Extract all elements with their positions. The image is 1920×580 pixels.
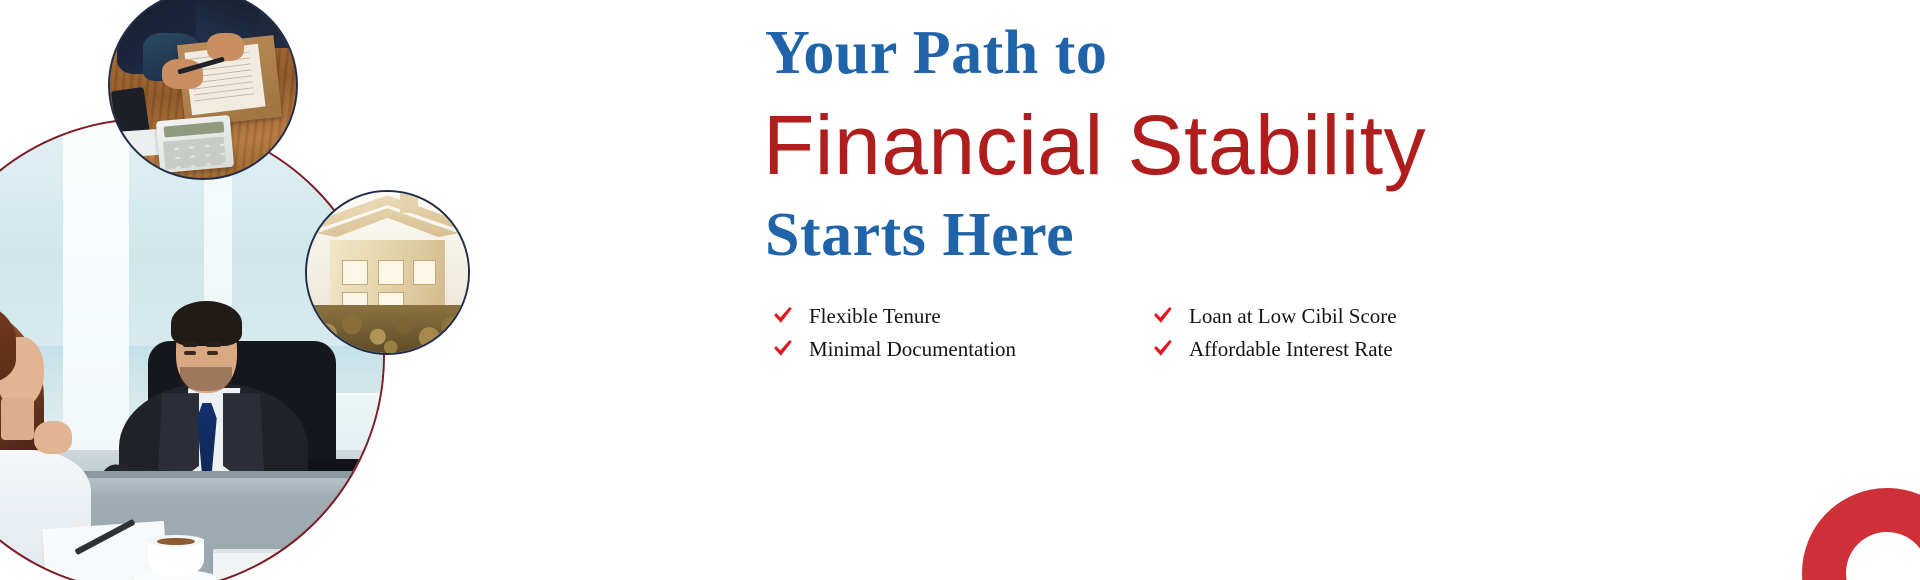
woman-neck: [1, 398, 34, 440]
headline-line-3: Starts Here: [765, 204, 1074, 266]
feature-item: Affordable Interest Rate: [1153, 338, 1453, 360]
coin-pile: [307, 305, 468, 353]
hand-holding-document: [207, 33, 244, 61]
house-window: [342, 260, 368, 286]
headline-line-1: Your Path to: [765, 22, 1107, 84]
headline-line-2: Financial Stability: [763, 103, 1426, 187]
house-savings-photo: [305, 190, 470, 355]
feature-column-2: Loan at Low Cibil Score Affordable Inter…: [1153, 305, 1453, 360]
man-eyebrow: [183, 342, 197, 346]
notebook: [213, 553, 293, 580]
check-icon: [1153, 306, 1173, 326]
feature-label: Affordable Interest Rate: [1189, 339, 1393, 360]
man-eyebrow: [206, 342, 220, 346]
man-eye: [207, 351, 218, 355]
feature-label: Loan at Low Cibil Score: [1189, 306, 1397, 327]
man-hair: [171, 301, 242, 346]
promo-banner: Your Path to Financial Stability Starts …: [0, 0, 1920, 580]
document-signing-photo: [108, 0, 298, 180]
house-window: [378, 260, 404, 286]
photo-collage: [0, 0, 500, 580]
feature-item: Flexible Tenure: [773, 305, 1083, 327]
house-window: [413, 260, 436, 286]
check-icon: [773, 306, 793, 326]
check-icon: [1153, 339, 1173, 359]
calculator-keypad: [163, 136, 227, 169]
decor-ring-icon: [1802, 488, 1920, 580]
man-beard: [180, 367, 232, 391]
check-icon: [773, 339, 793, 359]
eyeglasses-lens: [289, 560, 315, 579]
headline-block: Your Path to Financial Stability Starts …: [765, 0, 1665, 580]
feature-item: Loan at Low Cibil Score: [1153, 305, 1453, 327]
man-eye: [184, 351, 195, 355]
feature-list: Flexible Tenure Minimal Documentation: [773, 305, 1453, 360]
feature-label: Minimal Documentation: [809, 339, 1016, 360]
woman-hand: [34, 421, 72, 454]
feature-item: Minimal Documentation: [773, 338, 1083, 360]
feature-column-1: Flexible Tenure Minimal Documentation: [773, 305, 1083, 360]
feature-label: Flexible Tenure: [809, 306, 941, 327]
eyeglasses-bridge: [312, 566, 319, 574]
